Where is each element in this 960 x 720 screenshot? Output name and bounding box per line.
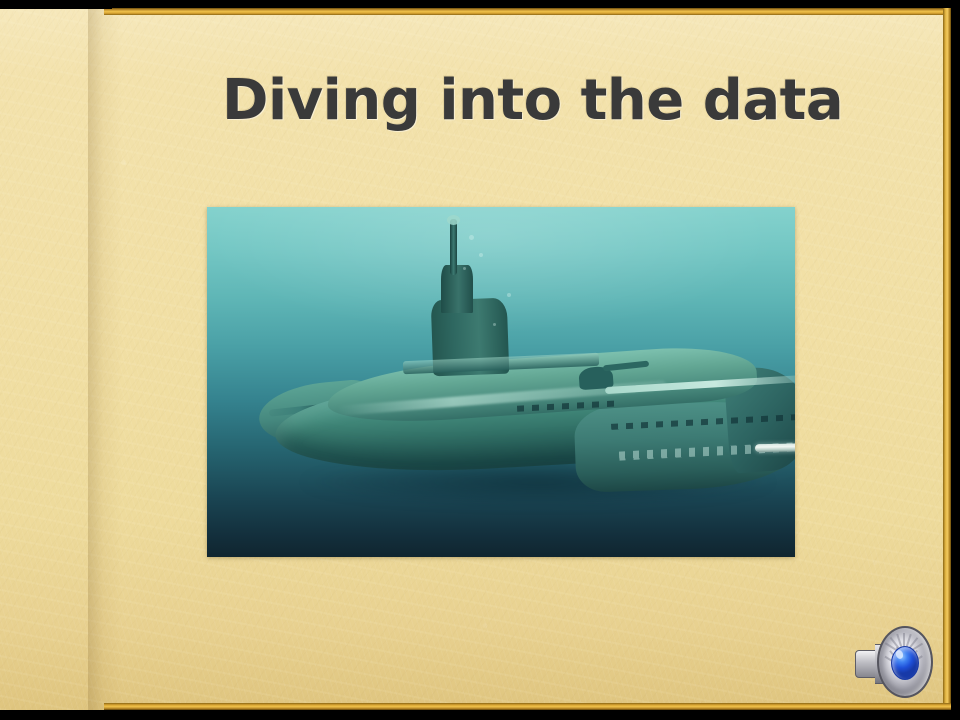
bow-torpedo [755, 442, 795, 452]
periscope-head [447, 215, 460, 225]
bubble [463, 267, 466, 270]
bubble [493, 323, 496, 326]
book-page: Diving into the data [0, 8, 951, 710]
slide-title: Diving into the data [222, 70, 922, 132]
bubble [469, 235, 474, 240]
periscope-mast [450, 219, 457, 275]
bubble [507, 293, 511, 297]
frame-strip-bottom [0, 710, 960, 720]
conning-tower-upper [441, 265, 473, 313]
submarine-image [207, 207, 795, 557]
frame-strip-right [951, 0, 960, 720]
submarine-illustration [207, 207, 795, 557]
slide-stage: Diving into the data [0, 0, 960, 720]
speaker-icon[interactable] [851, 624, 933, 696]
bubble [479, 253, 483, 257]
frame-strip-top [0, 0, 960, 8]
